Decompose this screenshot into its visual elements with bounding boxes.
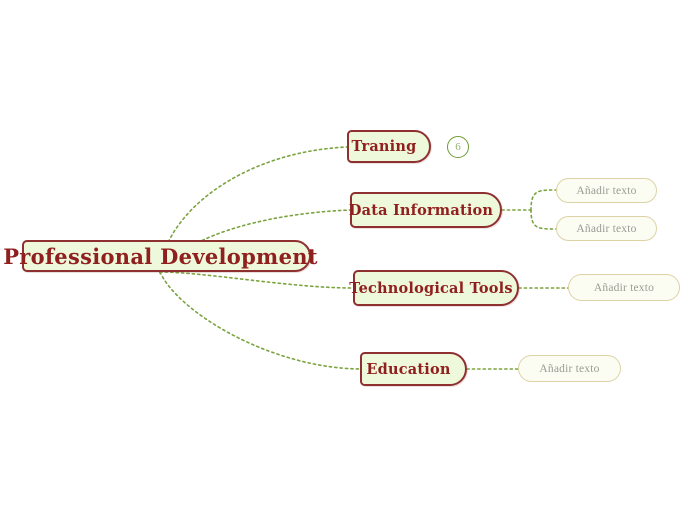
leaf-node-add-text-tech-1[interactable]: Añadir texto [568, 274, 680, 301]
branch-node-traning[interactable]: Traning [347, 130, 431, 163]
edge-data-to-child-2 [531, 210, 556, 229]
root-node-professional-development[interactable]: Professional Development [22, 240, 311, 272]
edge-root-to-education [160, 272, 360, 369]
mindmap-canvas[interactable]: Professional Development Traning 6 Data … [0, 0, 696, 520]
branch-node-technological-tools[interactable]: Technological Tools [353, 270, 519, 306]
branch-node-education[interactable]: Education [360, 352, 467, 386]
edge-data-to-child-1 [531, 190, 556, 210]
leaf-node-add-text-data-2[interactable]: Añadir texto [556, 216, 657, 241]
traning-count-badge[interactable]: 6 [447, 136, 469, 158]
leaf-node-add-text-education-1[interactable]: Añadir texto [518, 355, 621, 382]
branch-node-data-information[interactable]: Data Information [350, 192, 502, 228]
leaf-node-add-text-data-1[interactable]: Añadir texto [556, 178, 657, 203]
edge-root-to-technological-tools [160, 272, 353, 288]
